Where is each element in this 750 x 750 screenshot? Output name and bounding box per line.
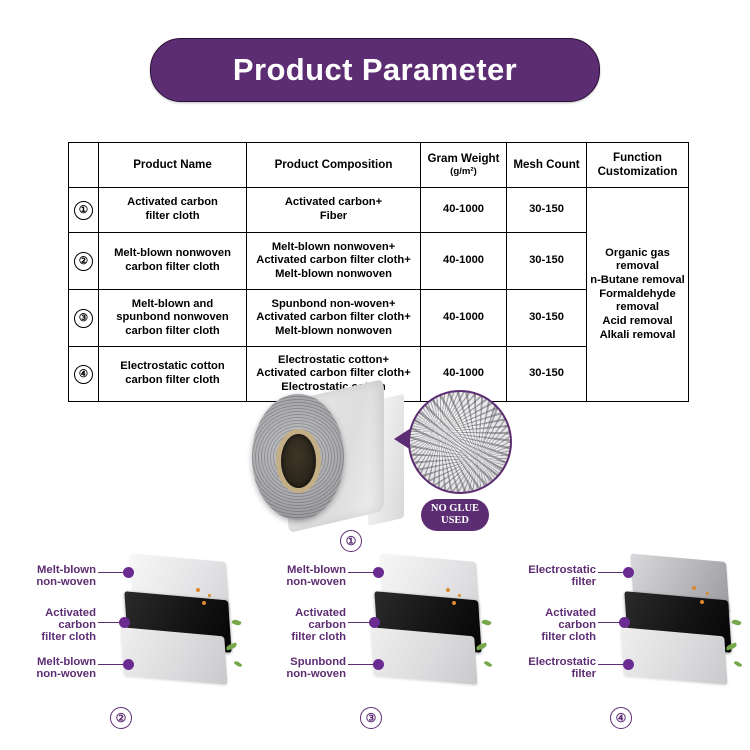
roll-end-face bbox=[252, 394, 344, 520]
leader-dot-top bbox=[123, 567, 134, 578]
particle-speck bbox=[446, 588, 450, 592]
magnified-texture-circle bbox=[408, 390, 512, 494]
leaf-particle bbox=[481, 618, 491, 626]
page-title: Product Parameter bbox=[233, 52, 517, 88]
layer-panel-2: Melt-blown non-woven Activated carbon fi… bbox=[0, 552, 250, 750]
row-number-2: ② bbox=[74, 252, 93, 271]
cell-gram-weight: 40-1000 bbox=[421, 188, 507, 233]
column-header-function-customization: Function Customization bbox=[587, 143, 689, 188]
layer-label-middle: Activated carbon filter cloth bbox=[506, 607, 596, 644]
cell-mesh-count: 30-150 bbox=[507, 290, 587, 347]
row-index-badge: ① bbox=[69, 188, 99, 233]
title-pill: Product Parameter bbox=[150, 38, 600, 102]
leaf-particle bbox=[234, 660, 243, 668]
leader-line-top bbox=[348, 572, 376, 573]
column-header-index bbox=[69, 143, 99, 188]
column-header-product-name: Product Name bbox=[99, 143, 247, 188]
row-number-3: ③ bbox=[74, 309, 93, 328]
layer-stack-illustration bbox=[372, 558, 490, 683]
particle-speck bbox=[202, 601, 206, 605]
cell-mesh-count: 30-150 bbox=[507, 188, 587, 233]
leader-line-bottom bbox=[598, 664, 626, 665]
leaf-particle bbox=[484, 660, 493, 668]
row-index-badge: ③ bbox=[69, 290, 99, 347]
cell-product-composition: Activated carbon+ Fiber bbox=[247, 188, 421, 233]
parameter-table: Product Name Product Composition Gram We… bbox=[68, 142, 689, 402]
leader-dot-middle bbox=[619, 617, 630, 628]
cell-function-customization: Organic gas removal n-Butane removal For… bbox=[587, 188, 689, 402]
layer-label-bottom: Melt-blown non-woven bbox=[14, 656, 96, 680]
layer-stack-illustration bbox=[622, 558, 740, 683]
panel-figure-number: ② bbox=[110, 707, 132, 729]
layer-label-top: Electrostatic filter bbox=[506, 564, 596, 588]
leaf-particle bbox=[231, 618, 241, 626]
cell-product-composition: Spunbond non-woven+ Activated carbon fil… bbox=[247, 290, 421, 347]
column-header-product-composition: Product Composition bbox=[247, 143, 421, 188]
leader-dot-bottom bbox=[623, 659, 634, 670]
product-roll-section: NO GLUE USED ① bbox=[0, 380, 750, 550]
cell-product-name: Melt-blown nonwoven carbon filter cloth bbox=[99, 233, 247, 290]
layer-label-middle: Activated carbon filter cloth bbox=[264, 607, 346, 644]
layer-label-top: Melt-blown non-woven bbox=[264, 564, 346, 588]
particle-speck bbox=[692, 586, 696, 590]
no-glue-line2: USED bbox=[441, 515, 469, 527]
particle-speck bbox=[700, 600, 704, 604]
particle-speck bbox=[706, 592, 709, 595]
column-header-mesh-count: Mesh Count bbox=[507, 143, 587, 188]
leader-dot-bottom bbox=[123, 659, 134, 670]
cell-product-composition: Melt-blown nonwoven+ Activated carbon fi… bbox=[247, 233, 421, 290]
particle-speck bbox=[458, 594, 461, 597]
table-header-row: Product Name Product Composition Gram We… bbox=[69, 143, 689, 188]
leader-dot-bottom bbox=[373, 659, 384, 670]
panel-figure-number: ③ bbox=[360, 707, 382, 729]
roll-figure-number: ① bbox=[340, 530, 362, 552]
leader-dot-top bbox=[373, 567, 384, 578]
cell-product-name: Melt-blown and spunbond nonwoven carbon … bbox=[99, 290, 247, 347]
layer-label-bottom: Electrostatic filter bbox=[506, 656, 596, 680]
cell-mesh-count: 30-150 bbox=[507, 233, 587, 290]
row-index-badge: ② bbox=[69, 233, 99, 290]
no-glue-badge: NO GLUE USED bbox=[421, 499, 489, 531]
layer-panel-3: Melt-blown non-woven Activated carbon fi… bbox=[250, 552, 500, 750]
leaf-particle bbox=[734, 660, 743, 668]
particle-speck bbox=[452, 601, 456, 605]
page-title-banner: Product Parameter bbox=[0, 38, 750, 102]
leader-dot-top bbox=[623, 567, 634, 578]
leader-line-bottom bbox=[348, 664, 376, 665]
layer-sheet-bottom bbox=[370, 627, 477, 685]
layer-panel-4: Electrostatic filter Activated carbon fi… bbox=[500, 552, 750, 750]
layer-structure-panels: Melt-blown non-woven Activated carbon fi… bbox=[0, 552, 750, 750]
fabric-roll-image bbox=[250, 388, 400, 528]
leader-dot-middle bbox=[369, 617, 380, 628]
cell-product-name: Activated carbon filter cloth bbox=[99, 188, 247, 233]
layer-label-middle: Activated carbon filter cloth bbox=[14, 607, 96, 644]
gram-weight-label: Gram Weight bbox=[428, 152, 500, 165]
layer-stack-illustration bbox=[122, 558, 240, 683]
column-header-gram-weight: Gram Weight (g/m²) bbox=[421, 143, 507, 188]
gram-weight-unit: (g/m²) bbox=[424, 166, 503, 178]
layer-label-top: Melt-blown non-woven bbox=[14, 564, 96, 588]
leader-line-bottom bbox=[98, 664, 126, 665]
roll-core bbox=[281, 434, 316, 488]
particle-speck bbox=[208, 594, 211, 597]
row-number-1: ① bbox=[74, 201, 93, 220]
particle-speck bbox=[196, 588, 200, 592]
panel-figure-number: ④ bbox=[610, 707, 632, 729]
leaf-particle bbox=[731, 618, 741, 626]
layer-label-bottom: Spunbond non-woven bbox=[264, 656, 346, 680]
cell-gram-weight: 40-1000 bbox=[421, 290, 507, 347]
layer-sheet-bottom bbox=[620, 627, 727, 685]
parameter-table-container: Product Name Product Composition Gram We… bbox=[68, 142, 688, 402]
leader-dot-middle bbox=[119, 617, 130, 628]
no-glue-line1: NO GLUE bbox=[431, 503, 479, 515]
leader-line-top bbox=[98, 572, 126, 573]
layer-sheet-bottom bbox=[120, 627, 227, 685]
leader-line-top bbox=[598, 572, 626, 573]
cell-gram-weight: 40-1000 bbox=[421, 233, 507, 290]
table-row: ① Activated carbon filter cloth Activate… bbox=[69, 188, 689, 233]
